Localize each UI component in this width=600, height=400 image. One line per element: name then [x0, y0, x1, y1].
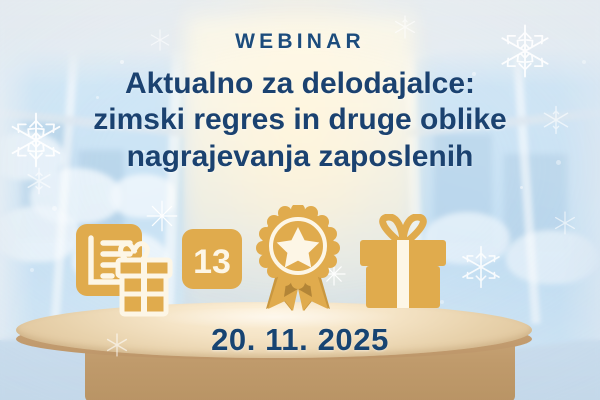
event-date: 20. 11. 2025 — [0, 322, 600, 358]
webinar-banner: 13 — [0, 0, 600, 400]
page-title: Aktualno za delodajalce: zimski regres i… — [40, 66, 560, 175]
title-line-1: Aktualno za delodajalce: — [40, 66, 560, 102]
title-line-3: nagrajevanja zaposlenih — [40, 139, 560, 175]
title-line-2: zimski regres in druge oblike — [40, 102, 560, 138]
kicker-label: WEBINAR — [235, 30, 365, 54]
